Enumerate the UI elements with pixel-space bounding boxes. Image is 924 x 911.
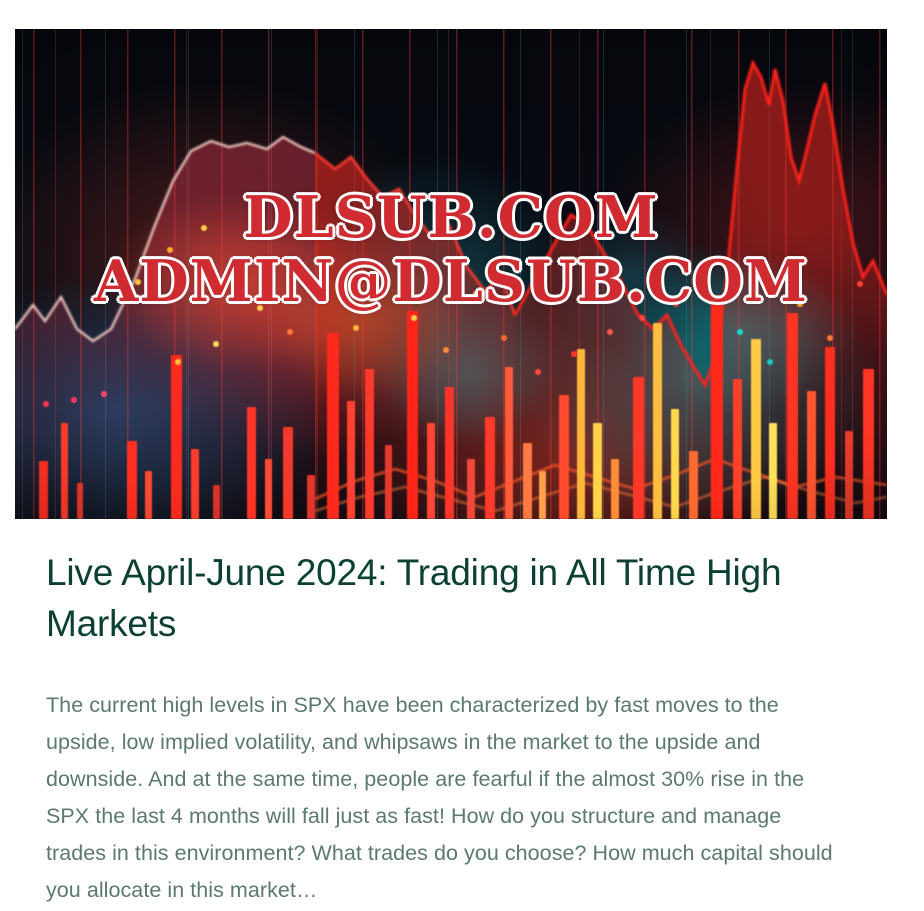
article-body: Live April-June 2024: Trading in All Tim… xyxy=(46,547,858,909)
article-excerpt: The current high levels in SPX have been… xyxy=(46,649,846,909)
hero-artwork xyxy=(15,29,887,519)
article-card-page: DLSUB.COM ADMIN@DLSUB.COM Live April-Jun… xyxy=(0,0,924,911)
hero-candlestick-layer xyxy=(15,229,887,519)
hero-image[interactable]: DLSUB.COM ADMIN@DLSUB.COM xyxy=(15,29,887,519)
page-title[interactable]: Live April-June 2024: Trading in All Tim… xyxy=(46,547,858,649)
